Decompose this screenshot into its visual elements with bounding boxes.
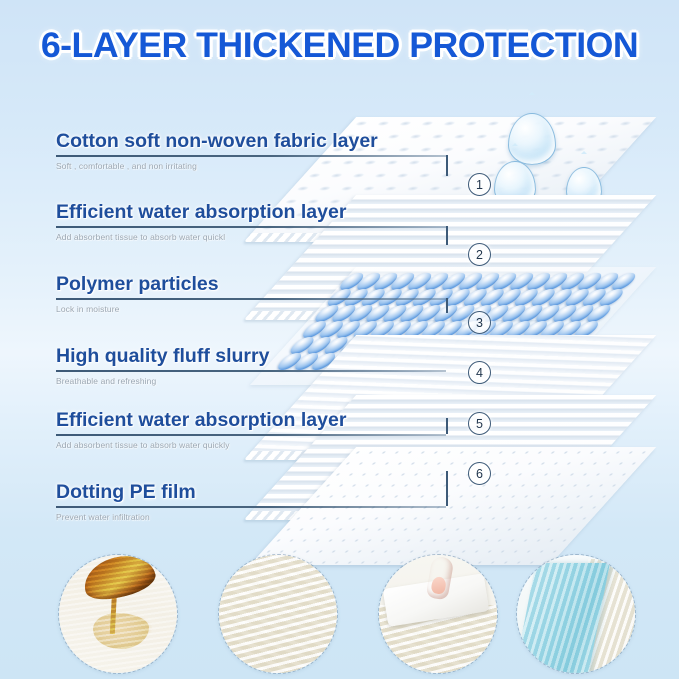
page-title: 6-LAYER THICKENED PROTECTION [0, 26, 679, 66]
leader-line-1 [446, 155, 448, 176]
callout-layer-3: Polymer particles Lock in moisture [56, 273, 219, 314]
layer-6-title: Dotting PE film [56, 481, 196, 503]
layer-number-3: 3 [468, 311, 491, 334]
layer-2-subtitle: Add absorbent tissue to absorb water qui… [56, 232, 346, 242]
layer-number-6: 6 [468, 462, 491, 485]
callout-layer-1: Cotton soft non-woven fabric layer Soft … [56, 130, 378, 171]
callout-layer-5: Efficient water absorption layer Add abs… [56, 409, 346, 450]
layer-5-title: Efficient water absorption layer [56, 409, 346, 431]
layer-number-1: 1 [468, 173, 491, 196]
layer-number-2: 2 [468, 243, 491, 266]
layer-5-subtitle: Add absorbent tissue to absorb water qui… [56, 440, 346, 450]
liquid-absorption-photo [58, 554, 178, 674]
callout-layer-4: High quality fluff slurry Breathable and… [56, 345, 269, 386]
layer-2-title: Efficient water absorption layer [56, 201, 346, 223]
leader-line-5 [446, 418, 448, 434]
layer-3-title: Polymer particles [56, 273, 219, 295]
callout-layer-6: Dotting PE film Prevent water infiltrati… [56, 481, 196, 522]
leader-line-3 [446, 298, 448, 313]
layer-1-subtitle: Soft , comfortable , and non irritating [56, 161, 378, 171]
layer-4-title: High quality fluff slurry [56, 345, 269, 367]
leader-line-6 [446, 471, 448, 506]
layer-number-5: 5 [468, 412, 491, 435]
photo-strip [0, 548, 679, 679]
layer-6-subtitle: Prevent water infiltration [56, 512, 196, 522]
finger-press-photo [378, 554, 498, 674]
layer-4-subtitle: Breathable and refreshing [56, 376, 269, 386]
leader-line-2 [446, 226, 448, 245]
layer-3-subtitle: Lock in moisture [56, 304, 219, 314]
product-feature-infographic: 6-LAYER THICKENED PROTECTION [0, 0, 679, 679]
fluff-surface-photo [218, 554, 338, 674]
layer-1-title: Cotton soft non-woven fabric layer [56, 130, 378, 152]
callout-layer-2: Efficient water absorption layer Add abs… [56, 201, 346, 242]
layer-number-4: 4 [468, 361, 491, 384]
blue-white-layer-photo [516, 554, 636, 674]
